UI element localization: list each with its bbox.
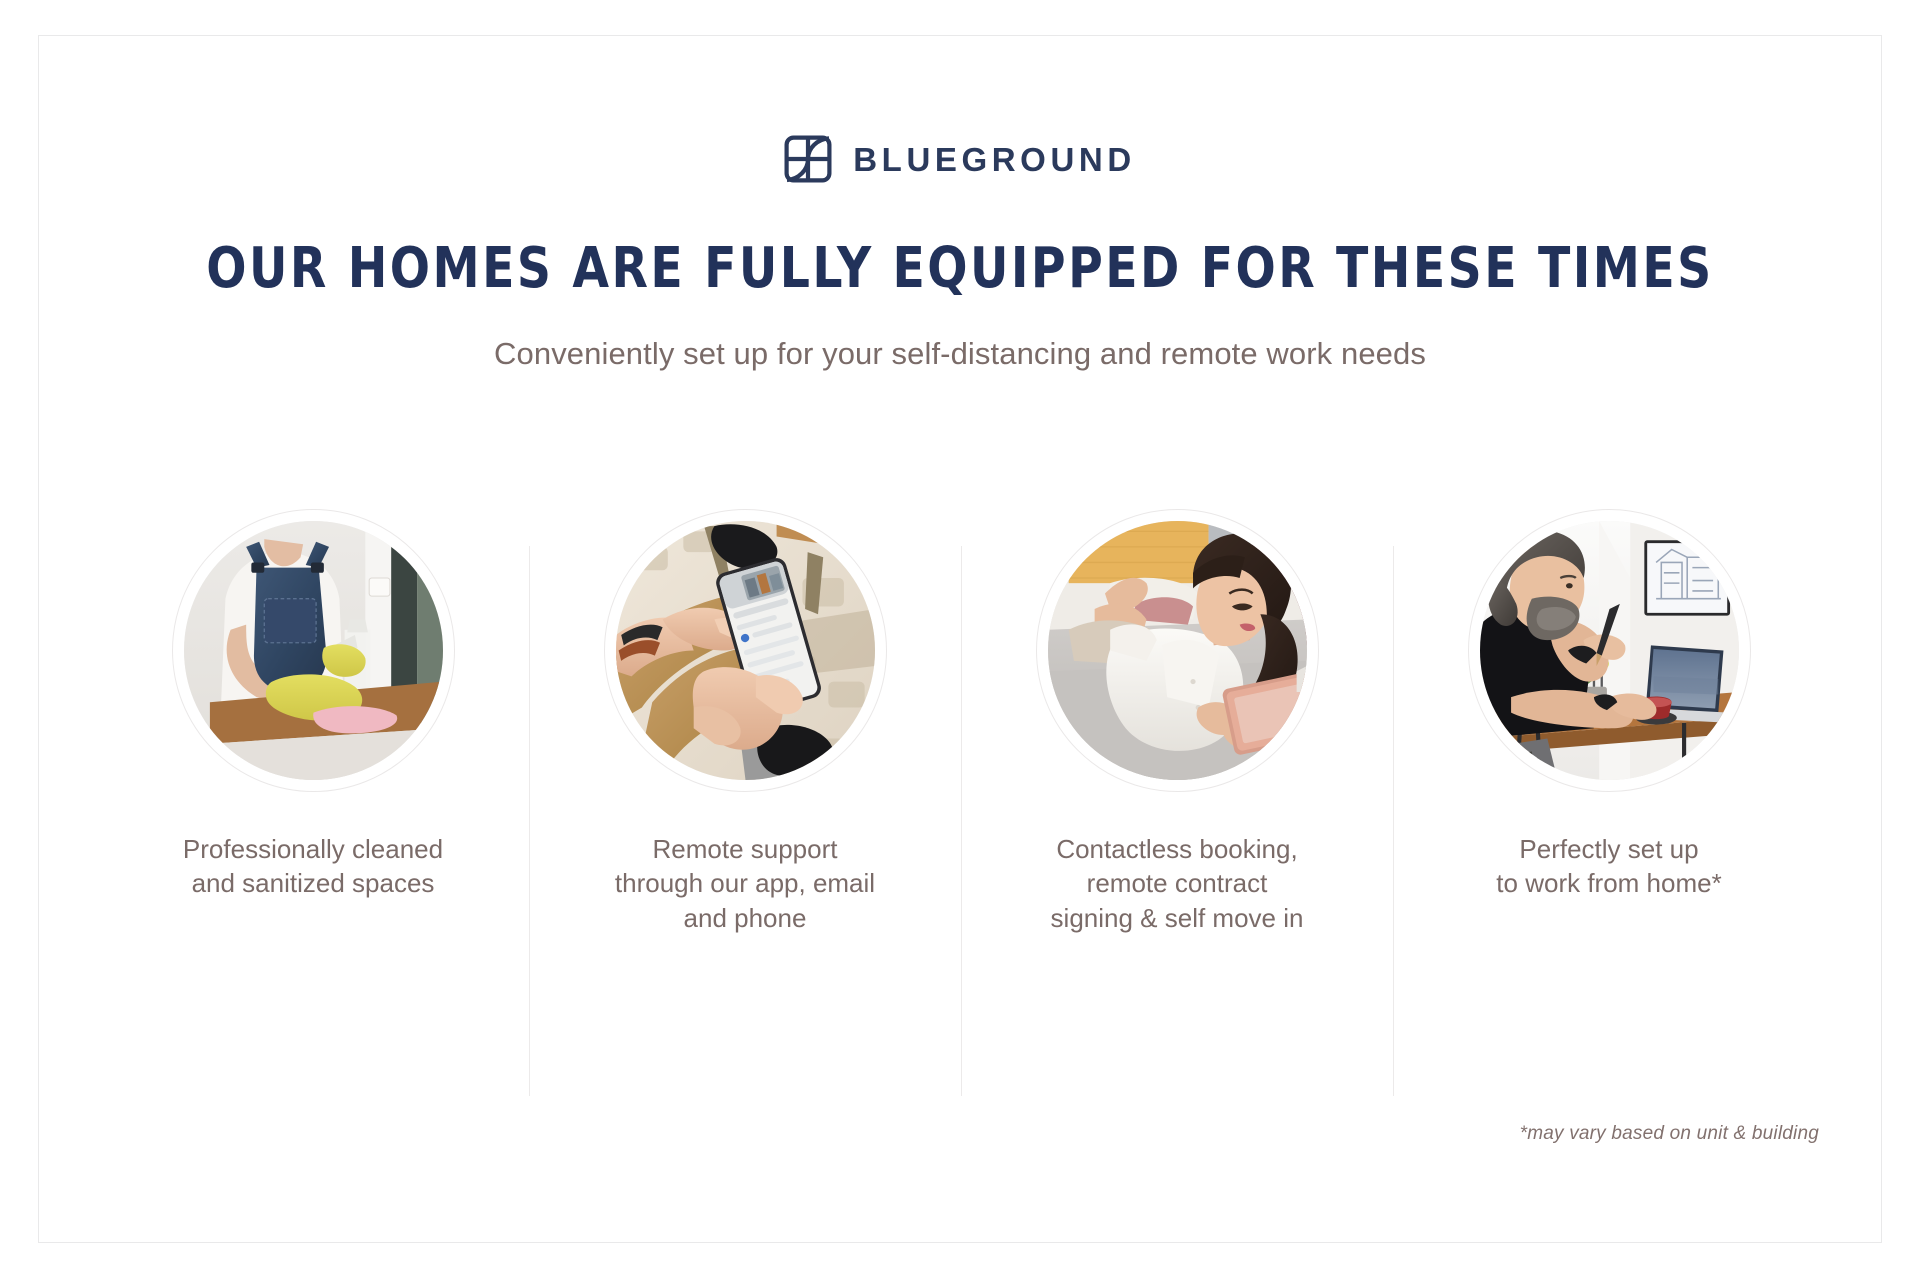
- feature-caption-line: and sanitized spaces: [183, 866, 443, 900]
- page-title: OUR HOMES ARE FULLY EQUIPPED FOR THESE T…: [94, 240, 1825, 299]
- avatar: [1468, 509, 1751, 792]
- photo-woman-with-tablet: [1048, 521, 1307, 780]
- feature-caption: Remote support through our app, email an…: [615, 832, 875, 935]
- blueground-logo-mark-icon: [784, 135, 832, 183]
- feature-caption-line: to work from home*: [1496, 866, 1721, 900]
- feature-caption-line: Perfectly set up: [1496, 832, 1721, 866]
- feature-caption: Contactless booking, remote contract sig…: [1051, 832, 1304, 935]
- feature-caption-line: through our app, email: [615, 866, 875, 900]
- avatar: [172, 509, 455, 792]
- feature-item-contactless-booking: Contactless booking, remote contract sig…: [961, 509, 1393, 935]
- page-subtitle: Conveniently set up for your self-distan…: [39, 336, 1881, 372]
- feature-caption-line: remote contract: [1051, 866, 1304, 900]
- avatar: [604, 509, 887, 792]
- photo-man-at-desk: [1480, 521, 1739, 780]
- feature-caption: Perfectly set up to work from home*: [1496, 832, 1721, 901]
- feature-caption: Professionally cleaned and sanitized spa…: [183, 832, 443, 901]
- footnote: *may vary based on unit & building: [1520, 1123, 1819, 1145]
- feature-caption-line: Remote support: [615, 832, 875, 866]
- feature-list: Professionally cleaned and sanitized spa…: [97, 509, 1825, 935]
- feature-item-work-from-home: Perfectly set up to work from home*: [1393, 509, 1825, 901]
- feature-caption-line: Contactless booking,: [1051, 832, 1304, 866]
- photo-cleaner: [184, 521, 443, 780]
- avatar: [1036, 509, 1319, 792]
- feature-caption-line: Professionally cleaned: [183, 832, 443, 866]
- feature-caption-line: signing & self move in: [1051, 901, 1304, 935]
- feature-caption-line: and phone: [615, 901, 875, 935]
- brand-wordmark: BLUEGROUND: [853, 143, 1136, 176]
- feature-item-remote-support: Remote support through our app, email an…: [529, 509, 961, 935]
- brand-lockup: BLUEGROUND: [39, 135, 1881, 183]
- poster-card: BLUEGROUND OUR HOMES ARE FULLY EQUIPPED …: [38, 35, 1882, 1243]
- photo-phone-in-hands: [616, 521, 875, 780]
- feature-item-cleaning: Professionally cleaned and sanitized spa…: [97, 509, 529, 901]
